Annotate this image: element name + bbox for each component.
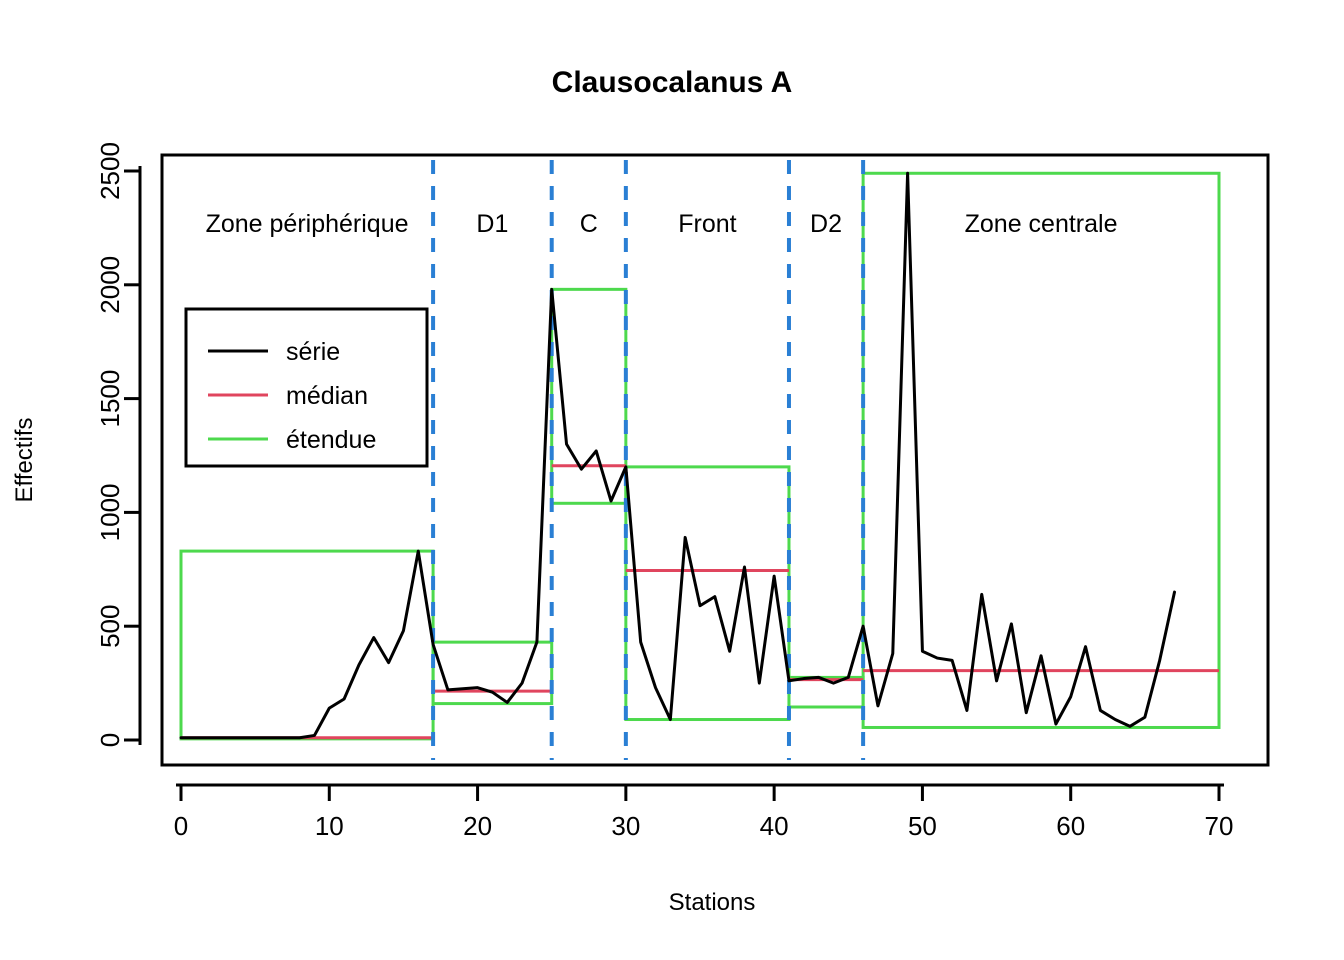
y-tick-label-1000: 1000 (95, 483, 125, 541)
y-tick-label-2500: 2500 (95, 142, 125, 200)
zone-label-3: C (580, 210, 598, 238)
legend-label-1: série (286, 338, 340, 366)
y-tick-label-1500: 1500 (95, 370, 125, 428)
x-tick-label-40: 40 (760, 811, 789, 841)
x-tick-label-0: 0 (174, 811, 188, 841)
zone-label-1: Zone périphérique (206, 210, 409, 238)
x-tick-label-10: 10 (315, 811, 344, 841)
legend-label-2: médian (286, 382, 368, 410)
y-tick-label-0: 0 (95, 733, 125, 747)
zone-label-6: Zone centrale (965, 210, 1118, 238)
y-axis-title: Effectifs (11, 418, 38, 503)
legend-label-3: étendue (286, 426, 376, 454)
zone-label-5: D2 (810, 210, 842, 238)
clausocalanus-a-chart: Clausocalanus A Effectifs Stations 01020… (0, 0, 1344, 960)
zone-label-4: Front (678, 210, 736, 238)
chart-background (0, 0, 1344, 960)
x-tick-label-30: 30 (611, 811, 640, 841)
zone-label-2: D1 (476, 210, 508, 238)
y-tick-label-500: 500 (95, 605, 125, 648)
x-tick-label-60: 60 (1056, 811, 1085, 841)
x-tick-label-20: 20 (463, 811, 492, 841)
x-tick-label-70: 70 (1205, 811, 1234, 841)
page-title: Clausocalanus A (552, 66, 793, 99)
y-tick-label-2000: 2000 (95, 256, 125, 314)
x-tick-label-50: 50 (908, 811, 937, 841)
legend: sériemédianétendue (186, 309, 427, 466)
chart-container: Clausocalanus A Effectifs Stations 01020… (0, 0, 1344, 960)
x-axis-title: Stations (669, 889, 756, 916)
